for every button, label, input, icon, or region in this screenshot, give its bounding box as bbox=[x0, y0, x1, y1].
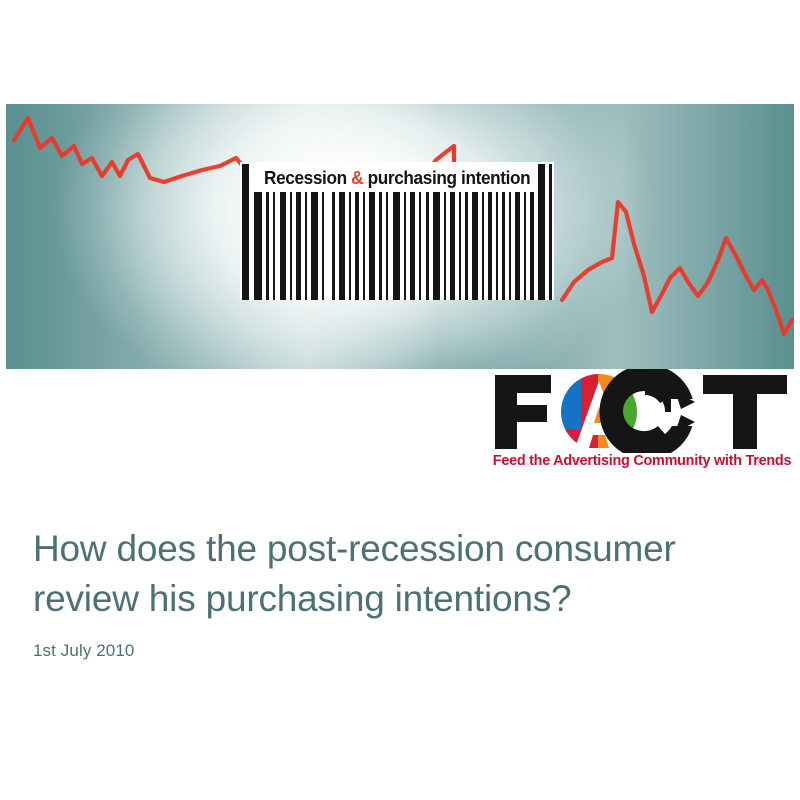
barcode-heading-suffix: purchasing intention bbox=[363, 167, 530, 188]
fact-tagline: Feed the Advertising Community with Tren… bbox=[489, 453, 795, 469]
fact-letter-c bbox=[605, 374, 697, 450]
page-title: How does the post-recession consumer rev… bbox=[33, 524, 763, 625]
fact-wordmark bbox=[489, 369, 795, 453]
barcode-heading-prefix: Recession bbox=[264, 167, 351, 188]
fact-letter-t bbox=[703, 375, 787, 449]
barcode-graphic: Recession & purchasing intention bbox=[240, 162, 554, 300]
presentation-date: 1st July 2010 bbox=[33, 641, 763, 661]
barcode-bars bbox=[240, 192, 554, 300]
barcode-heading: Recession & purchasing intention bbox=[240, 164, 554, 192]
title-block: How does the post-recession consumer rev… bbox=[33, 524, 763, 661]
fact-letter-f bbox=[495, 375, 551, 449]
fact-logo: Feed the Advertising Community with Tren… bbox=[489, 369, 795, 477]
barcode-heading-ampersand: & bbox=[351, 167, 363, 188]
